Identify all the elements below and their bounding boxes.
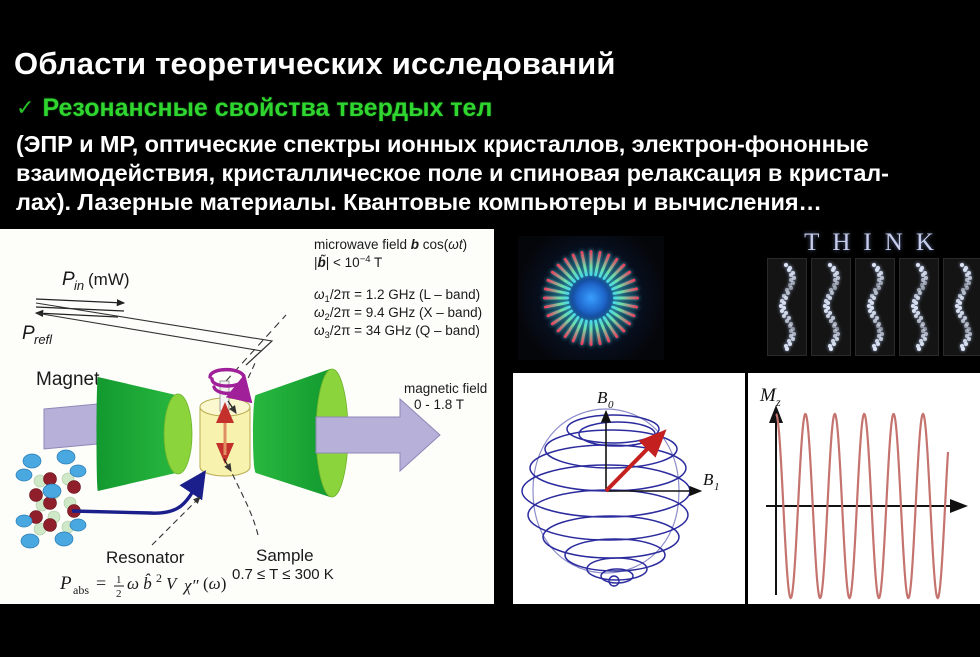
- bloch-sphere-panel: B 0 B 1: [513, 373, 745, 604]
- stm-atom-column: [908, 263, 930, 351]
- svg-text:=: =: [96, 573, 106, 593]
- stm-atom: [785, 347, 789, 351]
- svg-text:1: 1: [714, 481, 720, 493]
- svg-text:ω b̂: ω b̂: [127, 574, 152, 593]
- magnetization-oscillation-panel: M z: [748, 373, 980, 604]
- stm-atom: [784, 263, 788, 267]
- stm-atom: [876, 342, 880, 346]
- stm-atom-column: [776, 263, 798, 351]
- ring-figure: [518, 236, 664, 360]
- svg-text:M: M: [759, 385, 777, 406]
- svg-text:1: 1: [116, 574, 122, 586]
- svg-text:z: z: [775, 395, 781, 409]
- svg-text:V: V: [166, 574, 179, 593]
- magnet-label: Magnet: [36, 369, 100, 390]
- svg-text:in: in: [74, 278, 84, 293]
- stm-atom: [923, 337, 927, 341]
- stm-atom: [788, 342, 792, 346]
- bullet-row: ✓ Резонансные свойства твердых тел: [16, 94, 492, 123]
- svg-text:P: P: [62, 269, 75, 290]
- resonator-label: Resonator: [106, 548, 185, 567]
- think-stm-slide: [855, 258, 895, 356]
- svg-text:(mW): (mW): [88, 270, 130, 289]
- magnetic-field-label: magnetic field: [404, 381, 487, 396]
- sample-temperature: 0.7 ≤ T ≤ 300 K: [232, 566, 334, 583]
- stm-atom: [784, 296, 788, 300]
- stm-atom: [789, 286, 793, 290]
- body-paragraph: (ЭПР и МР, оптические спектры ионных кри…: [16, 130, 968, 217]
- think-stm-slide: [943, 258, 980, 356]
- svg-text:ω1/2π = 1.2 GHz (L – band): ω1/2π = 1.2 GHz (L – band): [314, 287, 480, 305]
- stm-atom: [872, 263, 876, 267]
- quantum-ring-panel: [518, 236, 664, 360]
- stm-atom: [782, 314, 786, 318]
- stm-atom: [917, 347, 921, 351]
- body-line-2: взаимодействия, кристаллическое поле и с…: [16, 159, 968, 188]
- stm-atom: [962, 291, 966, 295]
- crystal-lattice-icon: [16, 450, 86, 548]
- ring-spoke: [543, 297, 569, 300]
- stm-atom: [967, 281, 971, 285]
- think-stm-slide: [767, 258, 807, 356]
- stm-atom-column: [820, 263, 842, 351]
- svg-text:ω3/2π = 34 GHz (Q – band): ω3/2π = 34 GHz (Q – band): [314, 323, 480, 341]
- stm-atom: [923, 281, 927, 285]
- ring-spoke: [590, 250, 593, 276]
- ring-spoke: [590, 320, 593, 346]
- stm-atom: [835, 281, 839, 285]
- check-icon: ✓: [16, 97, 34, 119]
- svg-text:microwave field b cos(ωt): microwave field b cos(ωt): [314, 237, 467, 252]
- stm-atom-column: [952, 263, 974, 351]
- slide-header: Области теоретических исследований ✓ Рез…: [0, 0, 980, 228]
- stm-atom: [960, 263, 964, 267]
- stm-atom: [833, 286, 837, 290]
- stm-atom: [877, 286, 881, 290]
- stm-atom: [873, 347, 877, 351]
- think-slides: [767, 258, 980, 356]
- stm-atom: [832, 342, 836, 346]
- svg-text:B: B: [597, 388, 608, 407]
- stm-atom: [791, 281, 795, 285]
- svg-text:refl: refl: [34, 332, 53, 347]
- think-panel: THINK: [758, 228, 980, 358]
- stm-atom: [960, 296, 964, 300]
- stm-atom: [828, 263, 832, 267]
- stm-atom: [879, 337, 883, 341]
- bullet-label: Резонансные свойства твердых тел: [42, 94, 492, 123]
- svg-text:(ω): (ω): [203, 574, 226, 593]
- stm-atom: [914, 314, 918, 318]
- stm-atom: [961, 347, 965, 351]
- svg-text:|b̃| < 10−4 T: |b̃| < 10−4 T: [314, 254, 382, 270]
- svg-text:P: P: [22, 323, 35, 344]
- osc-y-label: M z: [759, 385, 781, 409]
- stm-atom: [916, 296, 920, 300]
- stm-atom: [958, 314, 962, 318]
- svg-text:2: 2: [156, 571, 162, 585]
- svg-text:P: P: [59, 573, 72, 594]
- ring-spoke: [613, 297, 639, 300]
- stm-atom: [828, 296, 832, 300]
- stm-atom: [872, 296, 876, 300]
- think-word: THINK: [758, 228, 980, 258]
- magnet-pole-left: [97, 377, 193, 491]
- stm-atom: [829, 347, 833, 351]
- stm-atom-column: [864, 263, 886, 351]
- microwave-field-text: microwave field b cos(ωt) |b̃| < 10−4 T …: [314, 237, 482, 341]
- stm-atom: [835, 337, 839, 341]
- epr-spectrometer-panel: microwave field b cos(ωt) |b̃| < 10−4 T …: [0, 229, 494, 604]
- stm-atom: [921, 286, 925, 290]
- stm-atom: [967, 337, 971, 341]
- svg-text:χ″: χ″: [182, 576, 199, 595]
- page-title: Области теоретических исследований: [14, 46, 616, 82]
- body-line-3: лах). Лазерные материалы. Квантовые комп…: [16, 188, 968, 217]
- svg-text:B: B: [703, 470, 714, 489]
- stm-atom: [830, 291, 834, 295]
- think-stm-slide: [811, 258, 851, 356]
- stm-atom: [786, 291, 790, 295]
- body-line-1: (ЭПР и МР, оптические спектры ионных кри…: [16, 130, 968, 159]
- stm-atom: [826, 314, 830, 318]
- stm-atom: [920, 342, 924, 346]
- absorbed-power-formula: P abs = 1 2 ω b̂ 2 V χ″ (ω): [59, 571, 226, 600]
- stm-atom: [918, 291, 922, 295]
- stm-atom: [870, 314, 874, 318]
- stm-atom: [965, 286, 969, 290]
- sample-label: Sample: [256, 546, 314, 565]
- stm-atom: [964, 342, 968, 346]
- svg-text:2: 2: [116, 588, 122, 600]
- svg-text:abs: abs: [73, 583, 89, 597]
- stm-atom: [879, 281, 883, 285]
- svg-text:ω2/2π = 9.4 GHz (X – band): ω2/2π = 9.4 GHz (X – band): [314, 305, 482, 323]
- callout-leaders: [152, 473, 258, 545]
- think-stm-slide: [899, 258, 939, 356]
- stm-atom: [916, 263, 920, 267]
- magnetic-field-range: 0 - 1.8 T: [414, 397, 464, 412]
- stm-atom: [791, 337, 795, 341]
- stm-atom: [874, 291, 878, 295]
- power-in-out-labels: P in (mW) P refl: [22, 269, 130, 347]
